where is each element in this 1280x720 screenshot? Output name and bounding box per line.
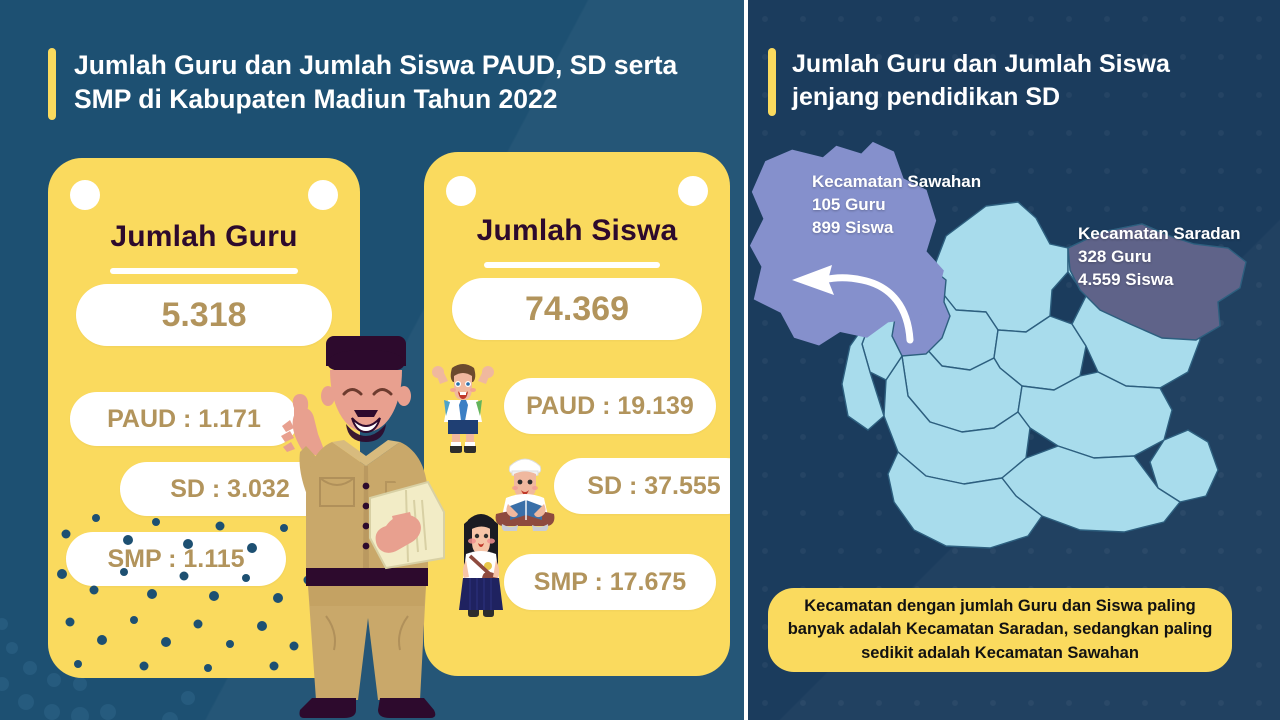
- card-hole-right-icon: [308, 180, 338, 210]
- map-label-saradan-siswa: 4.559 Siswa: [1078, 268, 1241, 291]
- card-hole-right-icon: [678, 176, 708, 206]
- summary-note-box: Kecamatan dengan jumlah Guru dan Siswa p…: [768, 588, 1232, 672]
- summary-note-text: Kecamatan dengan jumlah Guru dan Siswa p…: [784, 595, 1216, 665]
- left-panel-heading: Jumlah Guru dan Jumlah Siswa PAUD, SD se…: [48, 48, 708, 120]
- card-guru-title: Jumlah Guru: [48, 220, 360, 254]
- card-siswa-item-paud: PAUD : 19.139: [504, 378, 716, 434]
- map-label-saradan-name: Kecamatan Saradan: [1078, 222, 1241, 245]
- left-panel-title: Jumlah Guru dan Jumlah Siswa PAUD, SD se…: [74, 48, 708, 117]
- card-siswa-total: 74.369: [452, 278, 702, 340]
- card-guru-item-smp: SMP : 1.115: [66, 532, 286, 586]
- map-label-saradan-guru: 328 Guru: [1078, 245, 1241, 268]
- student-boy-cheering-illustration: [430, 358, 496, 454]
- card-siswa-item-sd: SD : 37.555: [554, 458, 730, 514]
- card-hole-left-icon: [70, 180, 100, 210]
- card-hole-left-icon: [446, 176, 476, 206]
- right-panel-heading: Jumlah Guru dan Jumlah Siswa jenjang pen…: [768, 48, 1238, 116]
- heading-accent-bar: [48, 48, 56, 120]
- map-label-sawahan-name: Kecamatan Sawahan: [812, 170, 981, 193]
- card-siswa-item-smp: SMP : 17.675: [504, 554, 716, 610]
- card-guru-item-paud: PAUD : 1.171: [70, 392, 298, 446]
- infographic-canvas: Jumlah Guru dan Jumlah Siswa PAUD, SD se…: [0, 0, 1280, 720]
- panel-divider: [744, 0, 748, 720]
- map-label-sawahan-siswa: 899 Siswa: [812, 216, 981, 239]
- right-panel-title: Jumlah Guru dan Jumlah Siswa jenjang pen…: [792, 48, 1238, 113]
- student-girl-illustration: [450, 508, 512, 620]
- card-siswa-underline: [484, 262, 660, 268]
- map-label-sawahan-guru: 105 Guru: [812, 193, 981, 216]
- card-siswa-title: Jumlah Siswa: [424, 214, 730, 248]
- map-label-sawahan: Kecamatan Sawahan 105 Guru 899 Siswa: [812, 170, 981, 239]
- heading-accent-bar: [768, 48, 776, 116]
- card-guru-underline: [110, 268, 298, 274]
- map-label-saradan: Kecamatan Saradan 328 Guru 4.559 Siswa: [1078, 222, 1241, 291]
